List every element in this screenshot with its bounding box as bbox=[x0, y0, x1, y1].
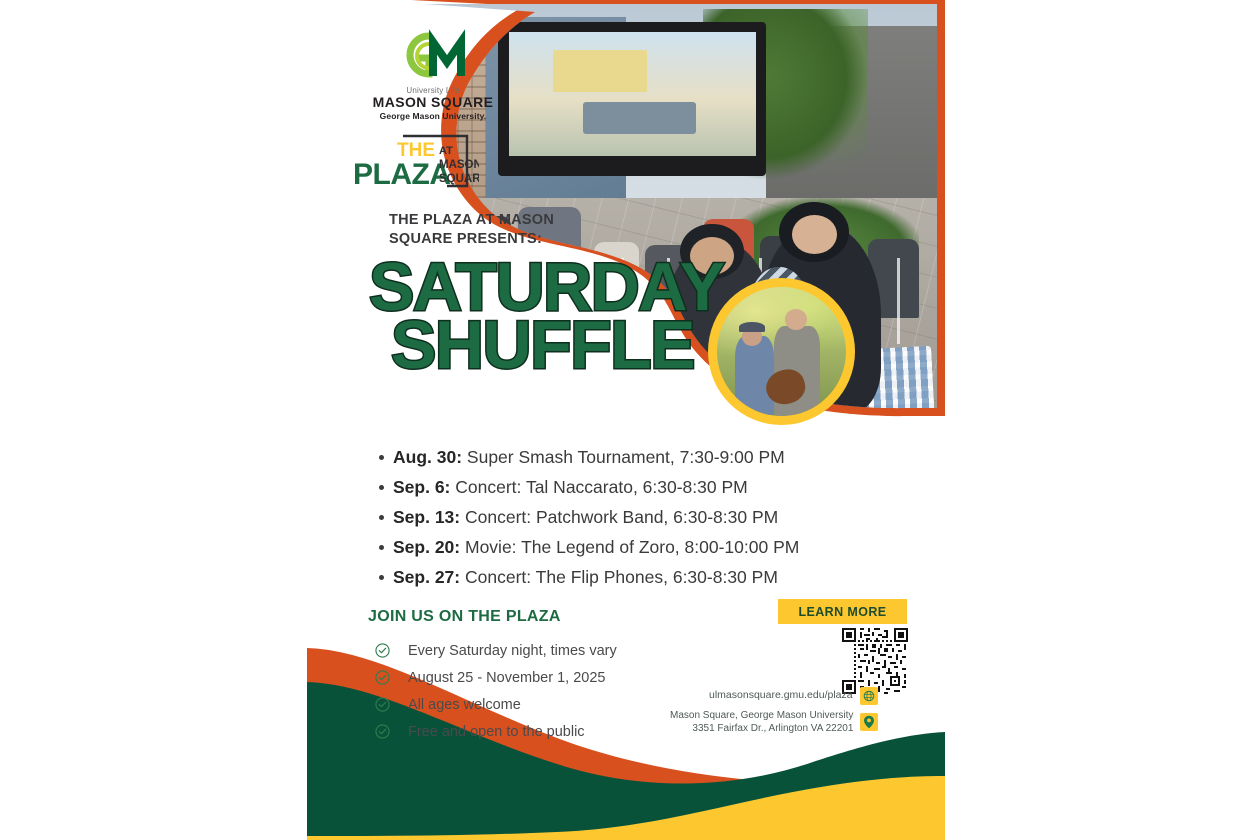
event-date: Sep. 13: bbox=[393, 507, 460, 527]
plaza-square-word: SQUARE bbox=[439, 173, 479, 185]
check-circle-icon bbox=[375, 643, 390, 658]
check-circle-icon bbox=[375, 697, 390, 712]
join-item-label: Every Saturday night, times vary bbox=[408, 643, 617, 659]
location-pin-icon bbox=[863, 715, 875, 729]
globe-icon bbox=[863, 690, 875, 702]
poster-canvas: University Life MASON SQUARE George Maso… bbox=[307, 0, 945, 840]
qr-code[interactable] bbox=[842, 628, 908, 694]
gmu-gm-monogram-icon bbox=[399, 28, 467, 84]
page-title: SATURDAY SHUFFLE bbox=[369, 258, 724, 375]
list-item: All ages welcome bbox=[375, 691, 617, 718]
event-date: Aug. 30: bbox=[393, 447, 462, 467]
join-item-label: Free and open to the public bbox=[408, 724, 585, 740]
address-text: Mason Square, George Mason University 33… bbox=[670, 709, 853, 735]
event-date: Sep. 27: bbox=[393, 567, 460, 587]
list-item: Sep. 20: Movie: The Legend of Zoro, 8:00… bbox=[393, 532, 933, 562]
event-detail: Concert: Tal Naccarato, 6:30-8:30 PM bbox=[455, 477, 747, 497]
mason-square-logo-block: University Life MASON SQUARE George Maso… bbox=[353, 28, 513, 121]
george-mason-university-label: George Mason University. bbox=[353, 111, 513, 121]
event-schedule-list: Aug. 30: Super Smash Tournament, 7:30-9:… bbox=[375, 442, 933, 592]
the-plaza-logo: THE PLAZA AT MASON SQUARE bbox=[351, 130, 479, 192]
list-item: August 25 - November 1, 2025 bbox=[375, 664, 617, 691]
list-item: Sep. 27: Concert: The Flip Phones, 6:30-… bbox=[393, 562, 933, 592]
globe-icon-badge bbox=[860, 687, 878, 705]
address-line-2: 3351 Fairfax Dr., Arlington VA 22201 bbox=[670, 722, 853, 735]
plaza-main-word: PLAZA bbox=[353, 158, 451, 191]
list-item: Free and open to the public bbox=[375, 718, 617, 745]
join-item-label: All ages welcome bbox=[408, 697, 521, 713]
check-circle-icon bbox=[375, 670, 390, 685]
join-item-label: August 25 - November 1, 2025 bbox=[408, 670, 605, 686]
address-line-1: Mason Square, George Mason University bbox=[670, 709, 853, 722]
location-pin-badge bbox=[860, 713, 878, 731]
plaza-mason-word: MASON bbox=[439, 159, 479, 171]
address-row: Mason Square, George Mason University 33… bbox=[670, 709, 878, 735]
join-us-heading: JOIN US ON THE PLAZA bbox=[368, 608, 561, 626]
website-url[interactable]: ulmasonsquare.gmu.edu/plaza bbox=[709, 689, 853, 703]
musicians-inset-photo bbox=[708, 278, 855, 425]
join-details-list: Every Saturday night, times vary August … bbox=[375, 637, 617, 745]
list-item: Aug. 30: Super Smash Tournament, 7:30-9:… bbox=[393, 442, 933, 472]
list-item: Sep. 6: Concert: Tal Naccarato, 6:30-8:3… bbox=[393, 472, 933, 502]
website-row[interactable]: ulmasonsquare.gmu.edu/plaza bbox=[709, 687, 878, 705]
title-line-2: SHUFFLE bbox=[391, 316, 724, 374]
plaza-at-word: AT bbox=[439, 145, 453, 157]
event-detail: Super Smash Tournament, 7:30-9:00 PM bbox=[467, 447, 785, 467]
check-circle-icon bbox=[375, 724, 390, 739]
event-detail: Concert: The Flip Phones, 6:30-8:30 PM bbox=[465, 567, 778, 587]
event-detail: Movie: The Legend of Zoro, 8:00-10:00 PM bbox=[465, 537, 799, 557]
event-detail: Concert: Patchwork Band, 6:30-8:30 PM bbox=[465, 507, 778, 527]
list-item: Sep. 13: Concert: Patchwork Band, 6:30-8… bbox=[393, 502, 933, 532]
list-item: Every Saturday night, times vary bbox=[375, 637, 617, 664]
learn-more-button[interactable]: LEARN MORE bbox=[778, 599, 907, 624]
mason-square-label: MASON SQUARE bbox=[353, 95, 513, 110]
event-date: Sep. 6: bbox=[393, 477, 450, 497]
event-date: Sep. 20: bbox=[393, 537, 460, 557]
presents-heading: THE PLAZA AT MASON SQUARE PRESENTS: bbox=[389, 211, 609, 248]
